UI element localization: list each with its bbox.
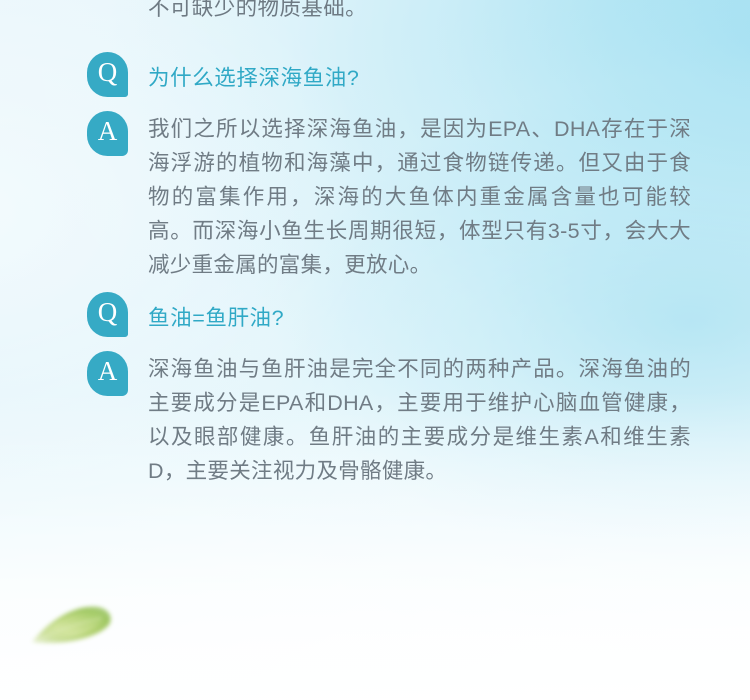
answer-badge-icon: A — [87, 351, 128, 396]
question-badge-icon: Q — [87, 52, 128, 97]
answer-badge-letter: A — [98, 358, 118, 385]
faq-item-1: Q 为什么选择深海鱼油? A 我们之所以选择深海鱼油，是因为EPA、DHA存在于… — [0, 52, 750, 282]
faq-answer-text-1: 我们之所以选择深海鱼油，是因为EPA、DHA存在于深海浮游的植物和海藻中，通过食… — [148, 112, 691, 282]
product-faq-page: 不可缺少的物质基础。 Q 为什么选择深海鱼油? A 我们之所以选择深海鱼油，是因… — [0, 0, 750, 700]
answer-badge-icon: A — [87, 111, 128, 156]
faq-answer-row-2: A 深海鱼油与鱼肝油是完全不同的两种产品。深海鱼油的主要成分是EPA和DHA，主… — [0, 351, 750, 488]
faq-question-text-2: 鱼油=鱼肝油? — [148, 304, 284, 332]
top-cut-off-text: 不可缺少的物质基础。 — [148, 0, 367, 25]
faq-item-2: Q 鱼油=鱼肝油? A 深海鱼油与鱼肝油是完全不同的两种产品。深海鱼油的主要成分… — [0, 292, 750, 488]
question-badge-letter: Q — [98, 59, 118, 86]
faq-answer-text-2: 深海鱼油与鱼肝油是完全不同的两种产品。深海鱼油的主要成分是EPA和DHA，主要用… — [148, 352, 691, 488]
answer-badge-letter: A — [98, 118, 118, 145]
faq-question-row-2: Q 鱼油=鱼肝油? — [0, 292, 750, 337]
faq-question-row-1: Q 为什么选择深海鱼油? — [0, 52, 750, 97]
faq-question-text-1: 为什么选择深海鱼油? — [148, 64, 359, 92]
question-badge-icon: Q — [87, 292, 128, 337]
question-badge-letter: Q — [98, 299, 118, 326]
faq-answer-row-1: A 我们之所以选择深海鱼油，是因为EPA、DHA存在于深海浮游的植物和海藻中，通… — [0, 111, 750, 282]
